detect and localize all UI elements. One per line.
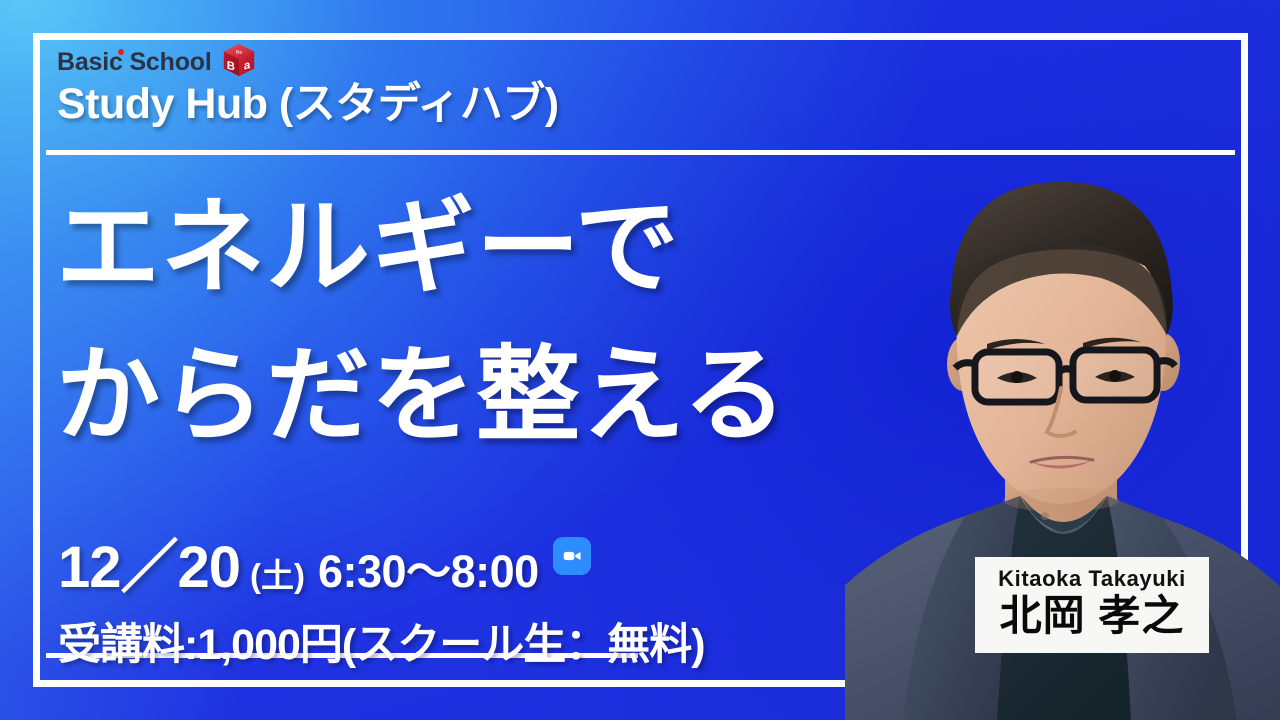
svg-text:Ba: Ba [236, 49, 242, 55]
header-block: Basic School [57, 45, 757, 127]
event-date-row: 12／20 (土) 6:30〜8:00 [58, 520, 705, 604]
red-cube-logo-icon: B a Ba [220, 41, 258, 79]
brand-row: Basic School [57, 45, 757, 79]
event-date: 12／20 [58, 520, 240, 604]
speaker-name-plate: Kitaoka Takayuki 北岡 孝之 [975, 557, 1209, 653]
event-fee: 受講料:1,000円(スクール生：無料) [58, 610, 705, 672]
event-time: 6:30〜8:00 [318, 535, 539, 600]
speaker-name-kanji: 北岡 孝之 [1000, 593, 1185, 638]
brand-accent-dot-icon [118, 49, 124, 55]
headline-block: エネルギーで からだを整える [56, 175, 936, 470]
zoom-video-camera-icon [553, 537, 591, 575]
svg-text:B: B [226, 60, 234, 74]
product-title: Study Hub (スタディハブ) [57, 81, 757, 127]
headline-line-2: からだを整える [56, 323, 936, 471]
svg-text:a: a [244, 59, 251, 72]
brand-name: Basic School [57, 50, 212, 75]
event-info-block: 12／20 (土) 6:30〜8:00 受講料:1,000円(スクール生：無料) [58, 520, 705, 672]
speaker-name-romaji: Kitaoka Takayuki [998, 568, 1186, 590]
event-weekday: (土) [250, 549, 305, 597]
headline-line-1: エネルギーで [56, 175, 936, 323]
brand-name-text: Basic School [57, 48, 212, 76]
